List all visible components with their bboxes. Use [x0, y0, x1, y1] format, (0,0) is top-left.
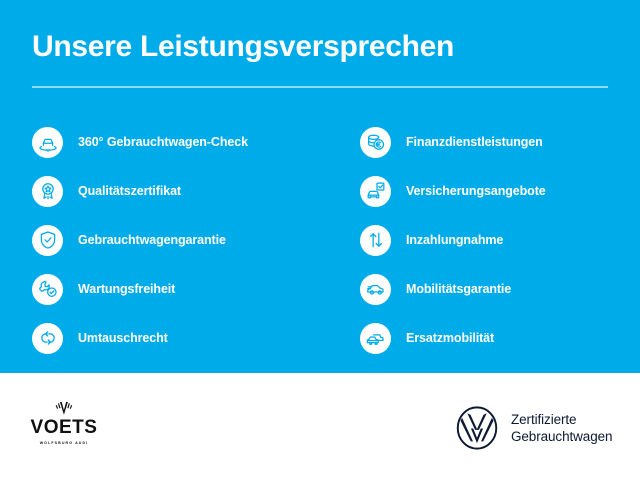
- promise-column-right: Finanzdienstleistungen Versicherungsange…: [320, 118, 640, 363]
- promise-item-mobilitaetsgarantie[interactable]: Mobilitätsgarantie: [360, 265, 640, 313]
- promise-label: Inzahlungnahme: [406, 233, 503, 247]
- footer-bar: VOETS WOLFSBURG AUDI Zertifizierte Gebra…: [0, 373, 640, 480]
- promise-item-qualitaetszertifikat[interactable]: Qualitätszertifikat: [32, 167, 320, 215]
- promise-label: 360° Gebrauchtwagen-Check: [78, 135, 248, 149]
- award-medal-icon: [32, 176, 63, 207]
- promise-label: Finanzdienstleistungen: [406, 135, 543, 149]
- promise-item-ersatzmobilitaet[interactable]: Ersatzmobilität: [360, 314, 640, 362]
- promise-item-wartungsfreiheit[interactable]: Wartungsfreiheit: [32, 265, 320, 313]
- voets-crown-icon: [53, 400, 75, 416]
- promise-label: Versicherungsangebote: [406, 184, 546, 198]
- voets-logo: VOETS WOLFSBURG AUDI: [30, 400, 98, 446]
- page-title: Unsere Leistungsversprechen: [32, 28, 454, 66]
- promise-label: Qualitätszertifikat: [78, 184, 181, 198]
- voets-wordmark: VOETS: [30, 418, 98, 438]
- car-check-360-icon: [32, 127, 63, 158]
- two-cars-icon: [360, 323, 391, 354]
- coins-euro-icon: [360, 127, 391, 158]
- vw-caption-line1: Zertifizierte: [511, 411, 612, 428]
- car-document-icon: [360, 176, 391, 207]
- promise-item-gebrauchtwagen-check[interactable]: 360° Gebrauchtwagen-Check: [32, 118, 320, 166]
- wrench-check-icon: [32, 274, 63, 305]
- exchange-arrows-icon: [32, 323, 63, 354]
- promise-column-left: 360° Gebrauchtwagen-Check Qualitätszerti…: [0, 118, 320, 363]
- promise-item-finanzdienstleistungen[interactable]: Finanzdienstleistungen: [360, 118, 640, 166]
- promise-label: Umtauschrecht: [78, 331, 168, 345]
- promise-columns: 360° Gebrauchtwagen-Check Qualitätszerti…: [0, 118, 640, 363]
- vw-logo-icon: [455, 406, 499, 450]
- promise-item-versicherungsangebote[interactable]: Versicherungsangebote: [360, 167, 640, 215]
- promise-item-gebrauchtwagengarantie[interactable]: Gebrauchtwagengarantie: [32, 216, 320, 264]
- shield-check-icon: [32, 225, 63, 256]
- hero-panel: Unsere Leistungsversprechen 360° Gebrauc…: [0, 0, 640, 373]
- vw-caption: Zertifizierte Gebrauchtwagen: [511, 411, 612, 445]
- promise-item-inzahlungnahme[interactable]: Inzahlungnahme: [360, 216, 640, 264]
- promise-label: Wartungsfreiheit: [78, 282, 175, 296]
- up-down-arrows-icon: [360, 225, 391, 256]
- voets-subline: WOLFSBURG AUDI: [30, 441, 98, 446]
- car-assistance-icon: [360, 274, 391, 305]
- vw-caption-line2: Gebrauchtwagen: [511, 428, 612, 445]
- promise-label: Gebrauchtwagengarantie: [78, 233, 226, 247]
- promise-label: Mobilitätsgarantie: [406, 282, 511, 296]
- promise-label: Ersatzmobilität: [406, 331, 494, 345]
- promise-poster: Unsere Leistungsversprechen 360° Gebrauc…: [0, 0, 640, 480]
- title-divider: [32, 86, 608, 88]
- volkswagen-certified-badge: Zertifizierte Gebrauchtwagen: [455, 406, 612, 450]
- promise-item-umtauschrecht[interactable]: Umtauschrecht: [32, 314, 320, 362]
